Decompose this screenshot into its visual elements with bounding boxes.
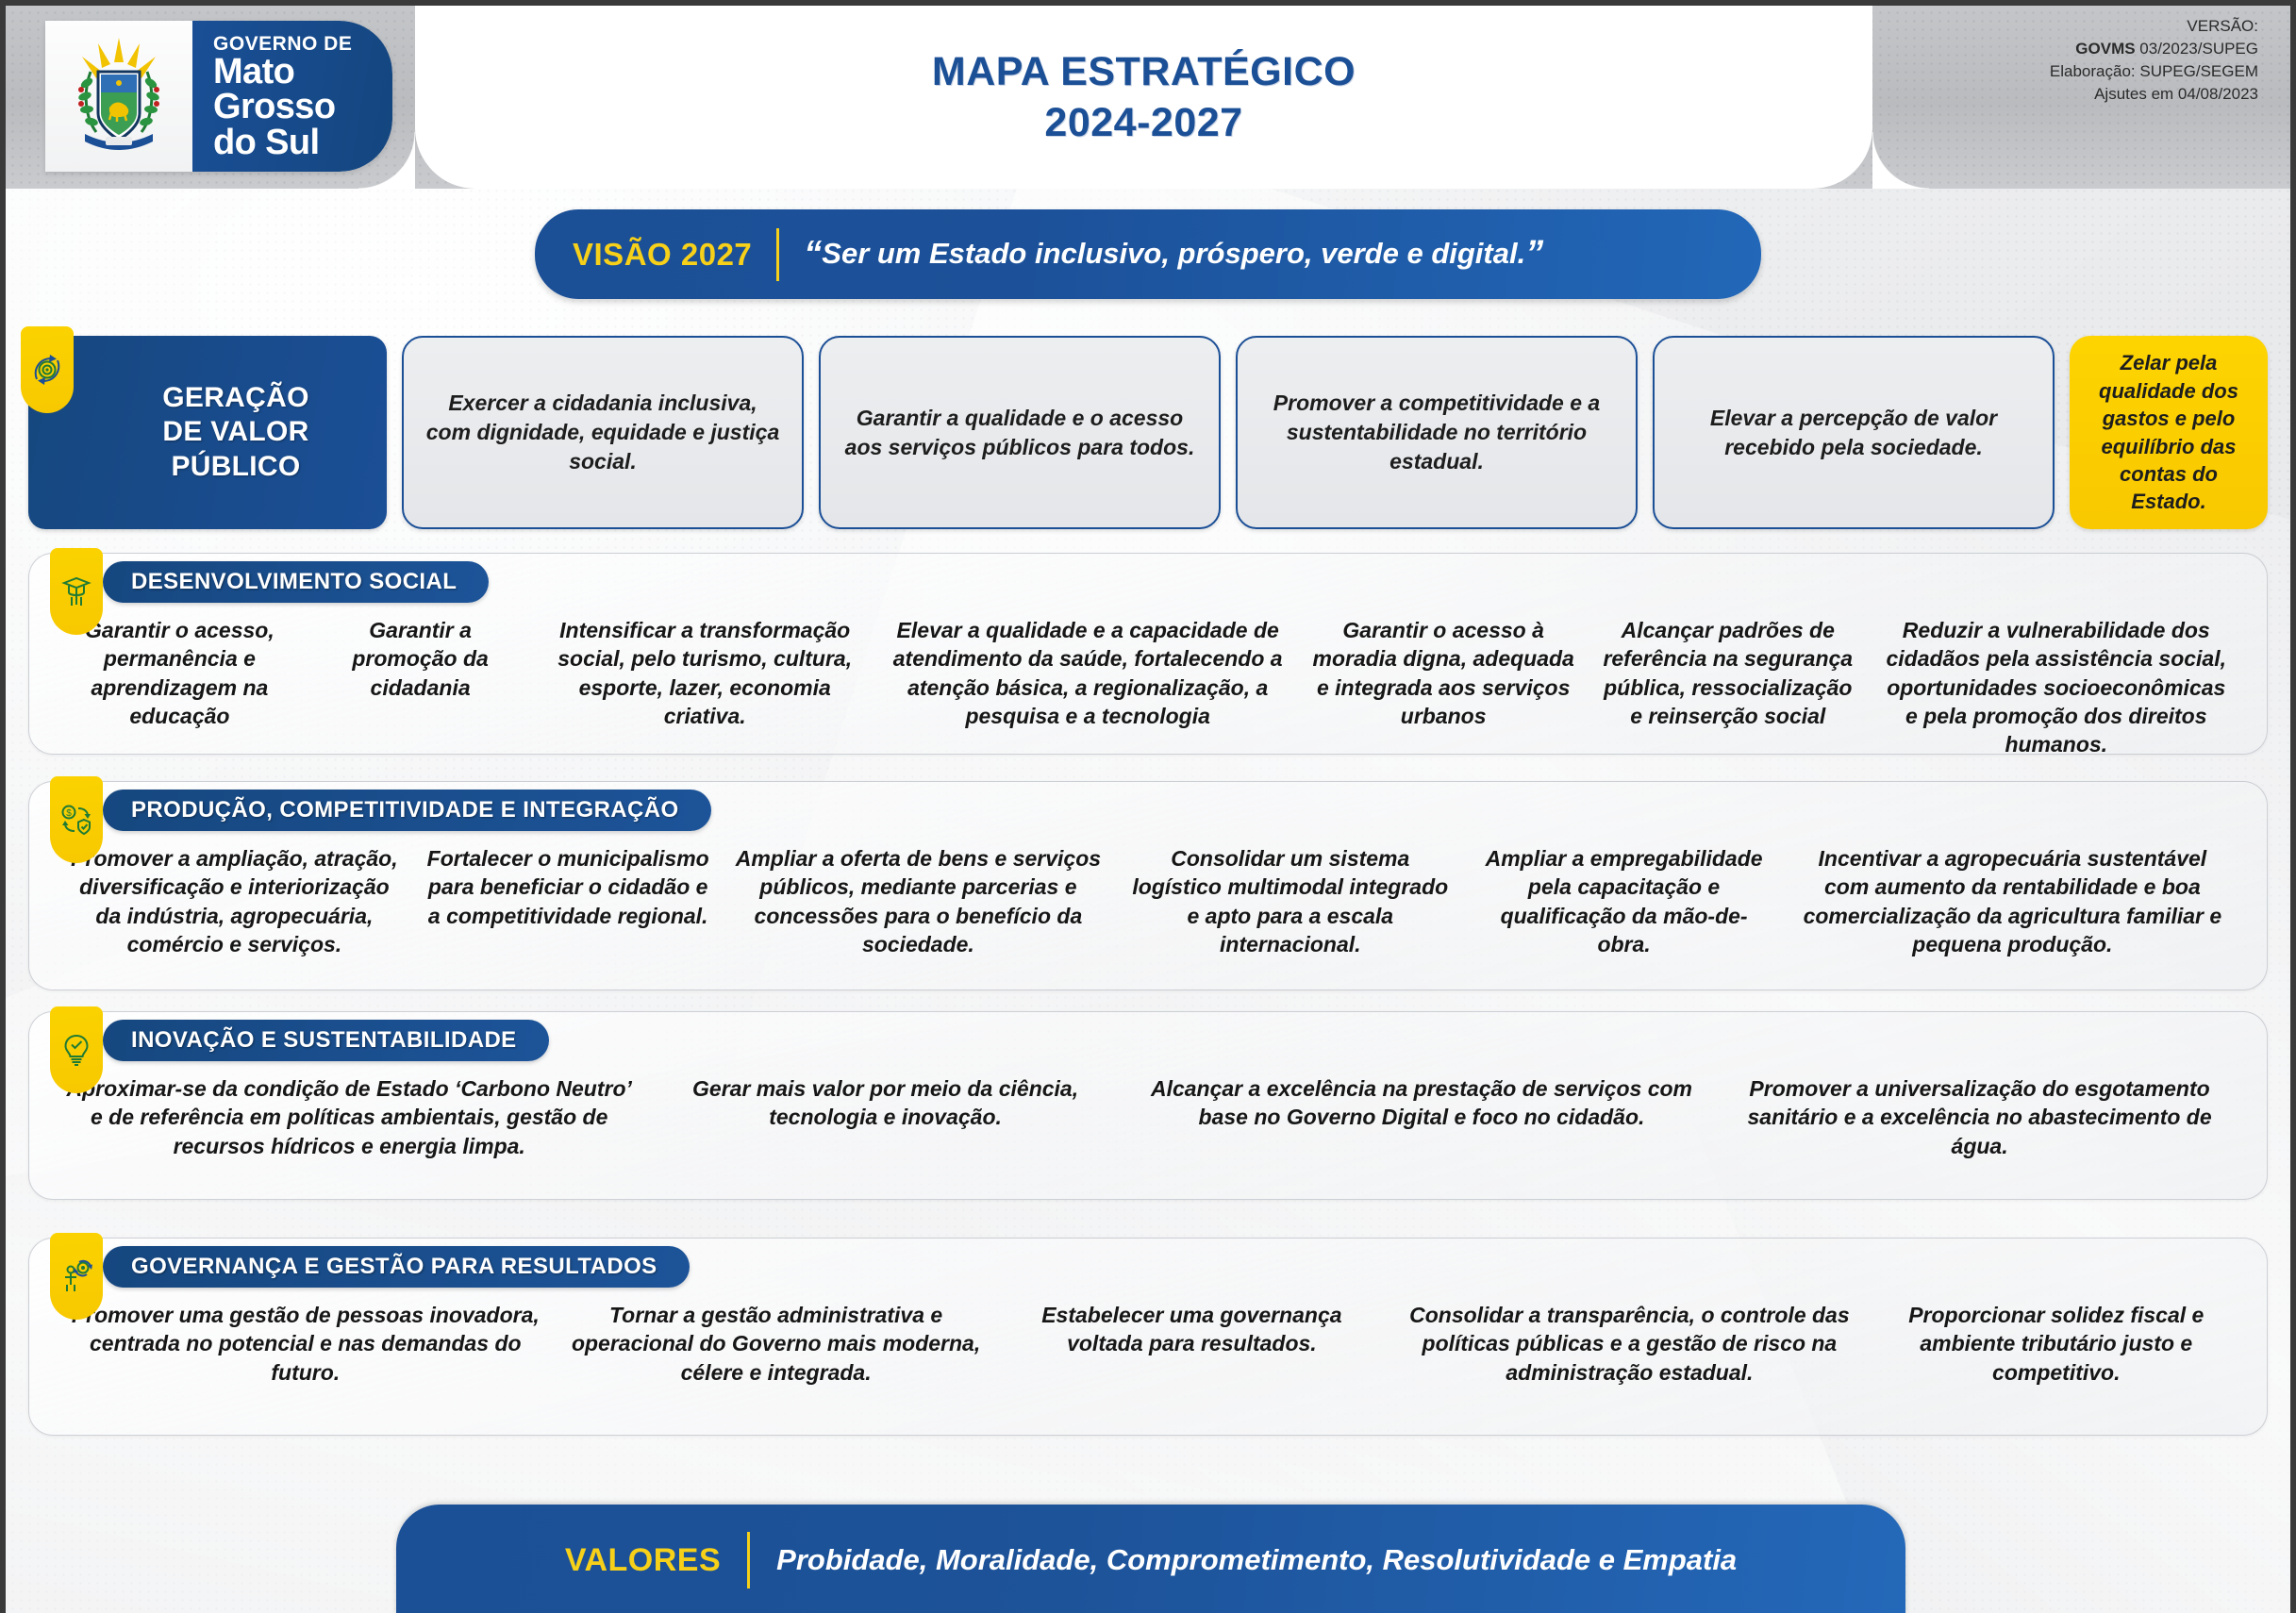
objective: Promover a universalização do esgotament… <box>1717 1074 2242 1160</box>
perspective-section-governanca-gestao-resultados: GOVERNANÇA E GESTÃO PARA RESULTADOS Prom… <box>28 1238 2268 1436</box>
page-title-line-2: 2024-2027 <box>415 98 1872 149</box>
objective: Garantir o acesso à moradia digna, adequ… <box>1301 616 1586 730</box>
objective: Fortalecer o municipalismo para benefici… <box>415 844 722 930</box>
vision-banner: VISÃO 2027 “Ser um Estado inclusivo, pró… <box>535 209 1761 299</box>
perspective-title: INOVAÇÃO E SUSTENTABILIDADE <box>103 1020 549 1061</box>
values-divider <box>747 1532 750 1588</box>
values-label: VALORES <box>565 1542 747 1579</box>
objective: Garantir a promoção da cidadania <box>306 616 536 702</box>
value-generation-heading-text: GERAÇÃO DE VALOR PÚBLICO <box>162 381 308 485</box>
objective: Promover uma gestão de pessoas inovadora… <box>54 1301 557 1387</box>
perspective-section-inovacao-sustentabilidade: INOVAÇÃO E SUSTENTABILIDADE Aproximar-se… <box>28 1011 2268 1200</box>
money-shield-cycle-icon: $ <box>50 776 103 863</box>
values-banner: VALORES Probidade, Moralidade, Compromet… <box>396 1505 1905 1613</box>
value-heading-line-1: GERAÇÃO <box>162 381 308 416</box>
objective: Promover a ampliação, atração, diversifi… <box>54 844 415 958</box>
quote-close: ” <box>1525 234 1543 274</box>
value-heading-line-2: DE VALOR <box>162 415 308 450</box>
objective: Elevar a qualidade e a capacidade de ate… <box>874 616 1301 730</box>
value-card-highlight: Zelar pela qualidade dos gastos e pelo e… <box>2070 336 2268 529</box>
version-code-suffix: 03/2023/SUPEG <box>2136 40 2258 58</box>
crest-panel <box>45 21 192 172</box>
objective: Gerar mais valor por meio da ciência, te… <box>644 1074 1125 1132</box>
objective: Aproximar-se da condição de Estado ‘Carb… <box>54 1074 644 1160</box>
logo-state-line-3: do Sul <box>213 125 364 160</box>
vision-label: VISÃO 2027 <box>573 237 776 273</box>
lightbulb-check-icon <box>50 1006 103 1093</box>
version-adjustments: Ajsutes em 04/08/2023 <box>2050 83 2258 106</box>
objective: Alcançar padrões de referência na segura… <box>1586 616 1871 730</box>
frame-edge-top <box>0 0 2296 6</box>
logo-state-line-1: Mato <box>213 55 364 90</box>
version-label: VERSÃO: <box>2050 15 2258 38</box>
objective: Ampliar a empregabilidade pela capacitaç… <box>1465 844 1782 958</box>
objective: Intensificar a transformação social, pel… <box>535 616 874 730</box>
logo-state-line-2: Grosso <box>213 90 364 125</box>
objective: Alcançar a excelência na prestação de se… <box>1126 1074 1717 1132</box>
value-heading-line-3: PÚBLICO <box>162 450 308 485</box>
objective: Tornar a gestão administrativa e operaci… <box>557 1301 995 1387</box>
graduation-people-icon <box>50 548 103 635</box>
vision-divider <box>776 228 779 281</box>
svg-text:$: $ <box>66 808 72 819</box>
objective: Garantir o acesso, permanência e aprendi… <box>54 616 306 730</box>
version-info: VERSÃO: GOVMS 03/2023/SUPEG Elaboração: … <box>2050 15 2258 107</box>
version-code: GOVMS 03/2023/SUPEG <box>2050 38 2258 60</box>
person-gear-cycle-icon <box>50 1233 103 1320</box>
objective: Ampliar a oferta de bens e serviços públ… <box>722 844 1116 958</box>
perspective-title: GOVERNANÇA E GESTÃO PARA RESULTADOS <box>103 1246 690 1288</box>
objective: Incentivar a agropecuária sustentável co… <box>1783 844 2242 958</box>
frame-edge-right <box>2290 0 2296 1613</box>
version-elaboration: Elaboração: SUPEG/SEGEM <box>2050 60 2258 83</box>
page-title: MAPA ESTRATÉGICO 2024-2027 <box>415 47 1872 149</box>
value-card: Elevar a percepção de valor recebido pel… <box>1653 336 2055 529</box>
value-card: Garantir a qualidade e o acesso aos serv… <box>819 336 1221 529</box>
version-code-prefix: GOVMS <box>2075 40 2135 58</box>
value-generation-heading: GERAÇÃO DE VALOR PÚBLICO <box>28 336 387 529</box>
objective: Consolidar um sistema logístico multimod… <box>1115 844 1465 958</box>
mato-grosso-do-sul-coat-of-arms-icon <box>66 34 172 158</box>
objective: Consolidar a transparência, o controle d… <box>1389 1301 1870 1387</box>
objective: Reduzir a vulnerabilidade dos cidadãos p… <box>1871 616 2242 759</box>
vision-statement-text: Ser um Estado inclusivo, próspero, verde… <box>822 237 1525 270</box>
perspective-title: DESENVOLVIMENTO SOCIAL <box>103 561 489 603</box>
value-card: Promover a competitividade e a sustentab… <box>1236 336 1638 529</box>
objective: Proporcionar solidez fiscal e ambiente t… <box>1871 1301 2242 1387</box>
quote-open: “ <box>804 234 822 274</box>
value-card: Exercer a cidadania inclusiva, com digni… <box>402 336 804 529</box>
objective: Estabelecer uma governança voltada para … <box>995 1301 1389 1358</box>
perspective-title: PRODUÇÃO, COMPETITIVIDADE E INTEGRAÇÃO <box>103 790 711 831</box>
government-logo: GOVERNO DE Mato Grosso do Sul <box>45 21 392 172</box>
vision-statement: “Ser um Estado inclusivo, próspero, verd… <box>804 234 1543 274</box>
target-arrows-icon <box>21 326 74 413</box>
perspective-section-producao-competitividade-integracao: $ PRODUÇÃO, COMPETITIVIDADE E INTEGRAÇÃO… <box>28 781 2268 990</box>
value-generation-row: GERAÇÃO DE VALOR PÚBLICO Exercer a cidad… <box>28 336 2268 529</box>
strategic-map-page: GOVERNO DE Mato Grosso do Sul MAPA ESTRA… <box>0 0 2296 1613</box>
page-title-line-1: MAPA ESTRATÉGICO <box>415 47 1872 98</box>
frame-edge-left <box>0 0 6 1613</box>
logo-text-panel: GOVERNO DE Mato Grosso do Sul <box>192 21 392 172</box>
values-text: Probidade, Moralidade, Comprometimento, … <box>776 1543 1737 1577</box>
perspective-section-desenvolvimento-social: DESENVOLVIMENTO SOCIAL Garantir o acesso… <box>28 553 2268 755</box>
